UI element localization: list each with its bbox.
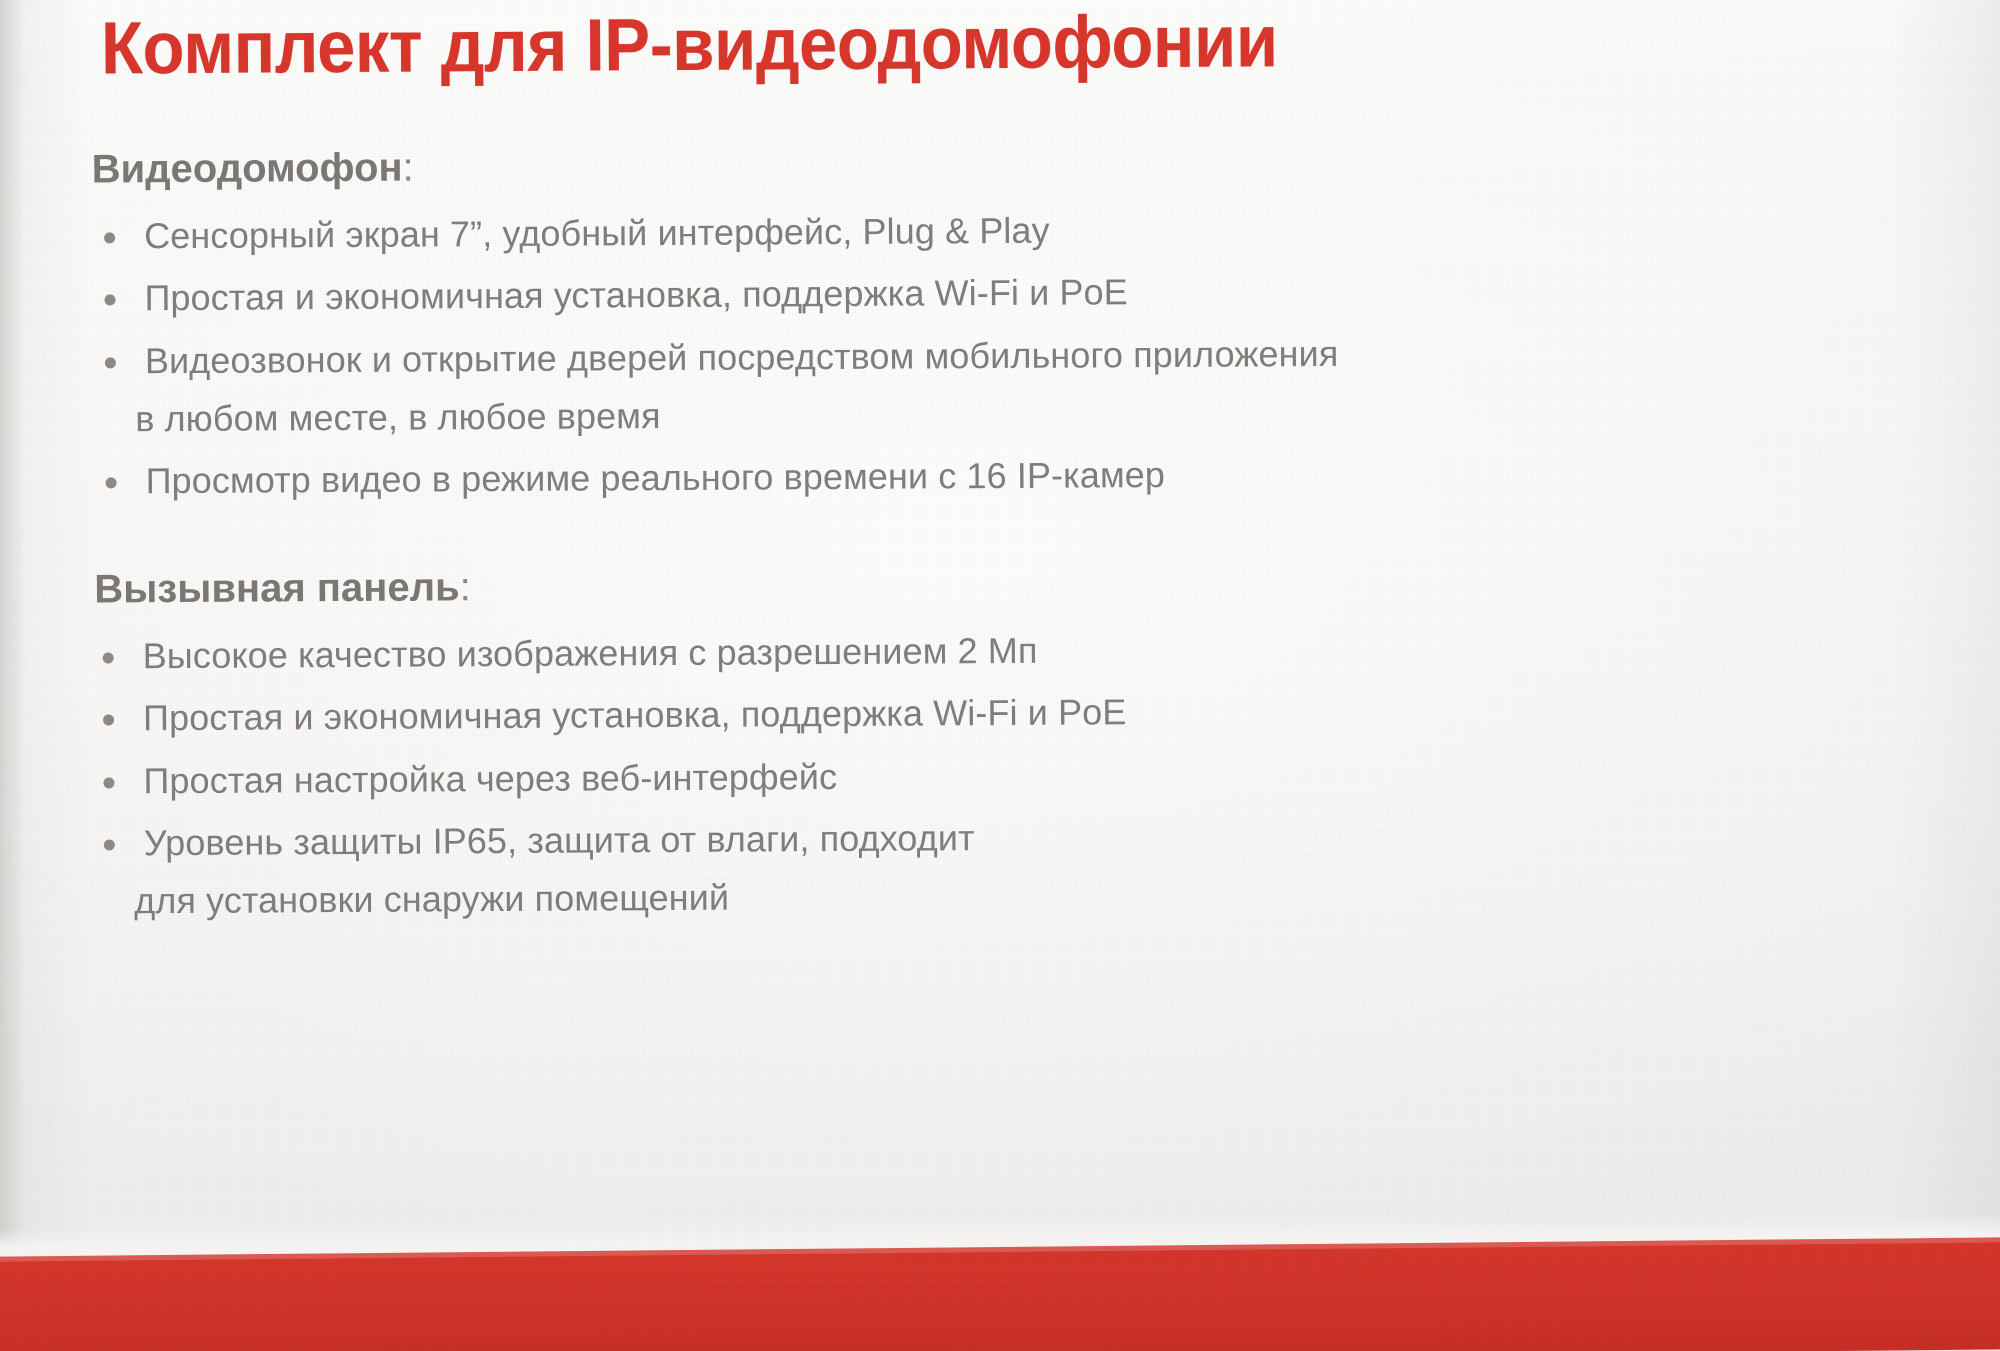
- list-item-text: Просмотр видео в режиме реального времен…: [145, 454, 1165, 501]
- list-item: Сенсорный экран 7”, удобный интерфейс, P…: [92, 196, 1972, 266]
- list-item: Простая и экономичная установка, поддерж…: [95, 678, 1975, 748]
- section-heading-label: Видеодомофон: [92, 146, 403, 192]
- section-vyzyvnaya-panel: Вызывная панель: Высокое качество изобра…: [94, 554, 1976, 935]
- content-layer: Комплект для IP-видеодомофонии Видеодомо…: [0, 0, 2000, 1351]
- bullet-dot-icon: [105, 357, 116, 368]
- list-item: Простая и экономичная установка, поддерж…: [92, 258, 1972, 328]
- list-item-text-wrap: для установки снаружи помещений: [134, 861, 1976, 931]
- list-item-text: Видеозвонок и открытие дверей посредство…: [145, 333, 1339, 381]
- list-item: Высокое качество изображения с разрешени…: [95, 616, 1975, 686]
- bullet-dot-icon: [104, 839, 115, 850]
- section-videodomofon: Видеодомофон: Сенсорный экран 7”, удобны…: [92, 134, 1974, 515]
- list-item: Простая настройка через веб-интерфейс: [95, 741, 1975, 811]
- section-heading: Видеодомофон:: [92, 134, 1972, 193]
- bullet-dot-icon: [104, 295, 115, 306]
- section-heading-colon: :: [460, 565, 471, 609]
- feature-list: Высокое качество изображения с разрешени…: [95, 616, 1977, 931]
- list-item: Просмотр видео в режиме реального времен…: [93, 441, 1973, 511]
- list-item-text: Простая настройка через веб-интерфейс: [143, 756, 837, 801]
- section-heading-label: Вызывная панель: [94, 565, 460, 611]
- section-heading: Вызывная панель:: [94, 554, 1974, 613]
- bullet-dot-icon: [103, 652, 114, 663]
- section-heading-colon: :: [402, 146, 413, 190]
- bullet-dot-icon: [104, 232, 115, 243]
- page-title: Комплект для IP-видеодомофонии: [101, 4, 1278, 85]
- list-item: Уровень защиты IP65, защита от влаги, по…: [96, 803, 1977, 931]
- list-item-text: Сенсорный экран 7”, удобный интерфейс, P…: [144, 210, 1050, 257]
- list-item: Видеозвонок и открытие дверей посредство…: [93, 321, 1974, 449]
- list-item-text: Простая и экономичная установка, поддерж…: [144, 272, 1128, 319]
- bullet-dot-icon: [106, 478, 117, 489]
- bullet-dot-icon: [103, 777, 114, 788]
- product-spec-panel: Комплект для IP-видеодомофонии Видеодомо…: [0, 0, 2000, 1351]
- bottom-red-band: [0, 1237, 2000, 1351]
- list-item-text: Простая и экономичная установка, поддерж…: [143, 692, 1127, 739]
- list-item-text: Высокое качество изображения с разрешени…: [143, 630, 1038, 676]
- bullet-dot-icon: [103, 715, 114, 726]
- list-item-text: Уровень защиты IP65, защита от влаги, по…: [144, 817, 975, 863]
- feature-list: Сенсорный экран 7”, удобный интерфейс, P…: [92, 196, 1974, 511]
- list-item-text-wrap: в любом месте, в любое время: [135, 379, 1973, 449]
